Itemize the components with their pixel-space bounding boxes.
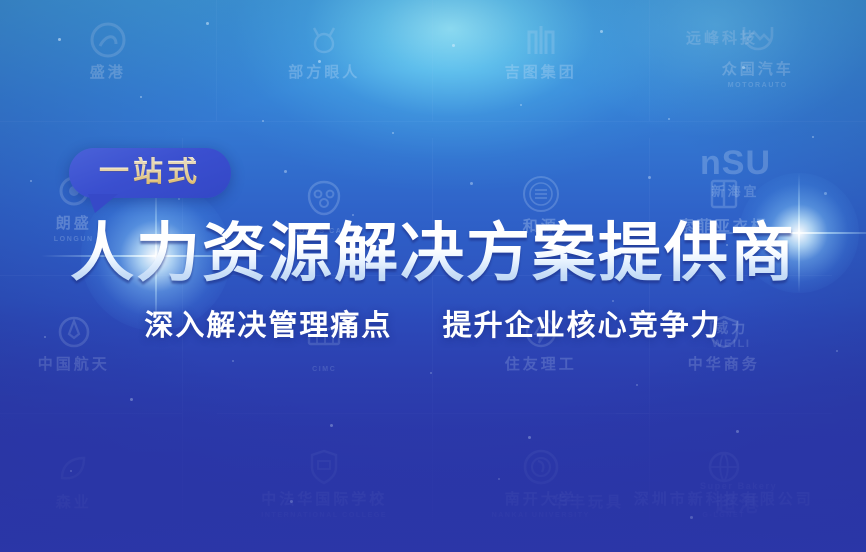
tagline-badge-label: 一站式 xyxy=(99,157,201,187)
tagline-badge-tail xyxy=(86,194,118,213)
tagline-badge-body: 一站式 xyxy=(69,148,231,198)
hero-banner: 盛港 部方眼人 吉图集团 众国汽车 MOTORAUTO xyxy=(0,0,866,552)
banner-content: 一站式 人力资源解决方案提供商 人力资源解决方案提供商 深入解决管理痛点 提升企… xyxy=(0,0,866,552)
page-subtitle: 深入解决管理痛点 提升企业核心竞争力 xyxy=(0,311,866,340)
page-subtitle-right: 提升企业核心竞争力 xyxy=(443,308,722,342)
tagline-badge: 一站式 xyxy=(69,148,231,198)
page-title-text: 人力资源解决方案提供商 xyxy=(70,217,796,291)
page-title: 人力资源解决方案提供商 人力资源解决方案提供商 xyxy=(0,222,866,286)
page-subtitle-left: 深入解决管理痛点 xyxy=(144,308,392,342)
